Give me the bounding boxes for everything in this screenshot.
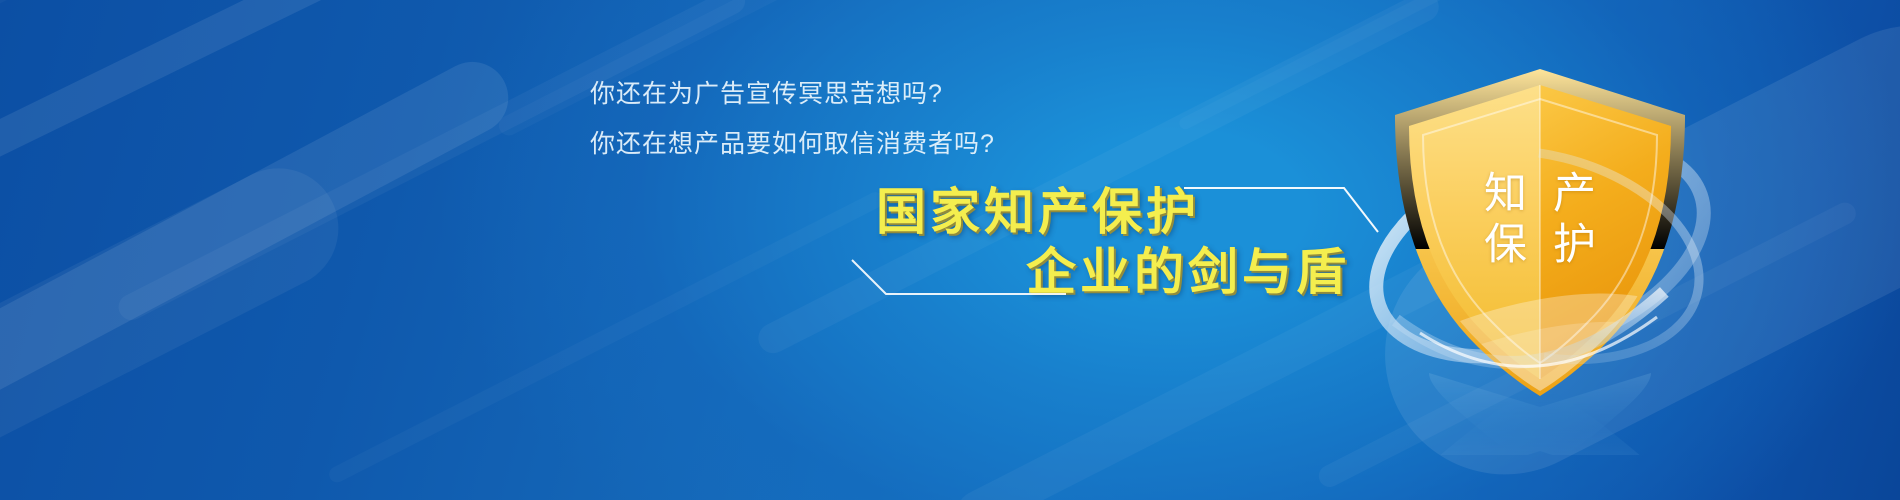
subtitle-line-2: 你还在想产品要如何取信消费者吗? bbox=[590, 124, 995, 160]
promo-banner: 你还在为广告宣传冥思苦想吗? 你还在想产品要如何取信消费者吗? 国家知产保护 企… bbox=[0, 0, 1900, 500]
copy-block: 你还在为广告宣传冥思苦想吗? 你还在想产品要如何取信消费者吗? 国家知产保护 企… bbox=[0, 0, 1400, 500]
connector-line-top bbox=[1182, 170, 1382, 250]
shield-icon bbox=[1365, 55, 1715, 455]
connector-line-bottom bbox=[850, 232, 1070, 312]
subtitle-line-1: 你还在为广告宣传冥思苦想吗? bbox=[590, 74, 943, 110]
shield-emblem: 知 产 保 护 bbox=[1365, 55, 1715, 455]
